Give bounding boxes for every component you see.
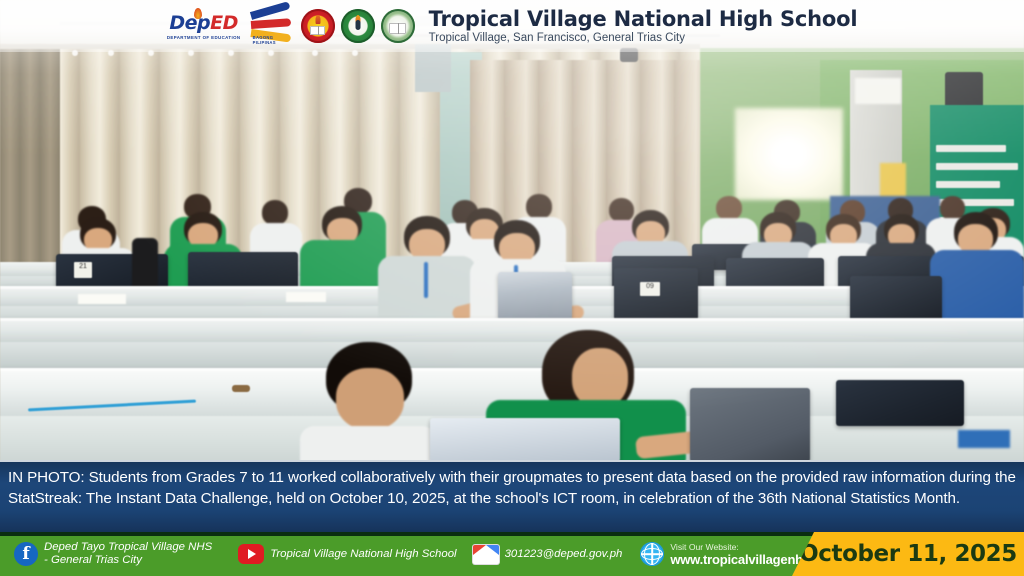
person-mid [300, 206, 384, 294]
book-icon [389, 23, 406, 34]
globe-icon[interactable] [640, 542, 664, 566]
bagong-pilipinas-subtitle: BAGONG PILIPINAS [253, 35, 295, 45]
flag-stripe-blue [250, 1, 291, 20]
globe-ring [644, 543, 660, 565]
laptop-number-label: 21 [74, 262, 92, 278]
poster-root: 21 [0, 0, 1024, 576]
caption-band: IN PHOTO: Students from Grades 7 to 11 w… [0, 460, 1024, 532]
facebook-label: Deped Tayo Tropical Village NHS - Genera… [44, 541, 212, 567]
curtain-left-dark [0, 44, 60, 280]
laptop-number-label: 09 [640, 282, 660, 296]
deped-word-dep: Dep [169, 12, 210, 34]
photo-region: 21 [0, 0, 1024, 462]
facebook-label-line1: Deped Tayo Tropical Village NHS [44, 541, 212, 554]
school-name: Tropical Village National High School [429, 7, 858, 31]
facebook-label-line2: - General Trias City [44, 554, 212, 567]
window [735, 108, 843, 200]
school-identity: Tropical Village National High School Tr… [429, 7, 858, 45]
paper [78, 294, 126, 304]
header-bar: DepED DEPARTMENT OF EDUCATION BAGONG PIL… [0, 0, 1024, 52]
board-row [936, 181, 1000, 188]
figure-icon [355, 20, 360, 30]
book-icon [310, 26, 325, 35]
flame-icon [194, 8, 202, 19]
footer-facebook[interactable]: f Deped Tayo Tropical Village NHS - Gene… [14, 541, 212, 567]
school-seal-green [341, 9, 375, 43]
laptop-closed [836, 380, 964, 426]
deped-wordmark: DepED [169, 12, 238, 34]
youtube-icon[interactable] [238, 544, 264, 564]
deped-word-ed: ED [210, 12, 238, 34]
logo-group: DepED DEPARTMENT OF EDUCATION BAGONG PIL… [167, 8, 415, 44]
bagong-pilipinas-logo: BAGONG PILIPINAS [247, 8, 295, 44]
desk-edge [0, 318, 1024, 321]
date-badge: October 11, 2025 [792, 532, 1024, 576]
school-seal-gear-green [381, 9, 415, 43]
person-student-blue [930, 212, 1024, 324]
youtube-label: Tropical Village National High School [270, 548, 456, 561]
flag-stripe-red [250, 18, 290, 29]
paper [286, 292, 326, 302]
laptop-open-foreground [430, 418, 620, 462]
laptop-foreground-right [690, 388, 810, 462]
deped-subtitle: DEPARTMENT OF EDUCATION [167, 35, 241, 40]
footer-email[interactable]: 301223@deped.gov.ph [473, 545, 623, 564]
person-foreground-boy [300, 342, 436, 462]
facebook-icon[interactable]: f [14, 542, 38, 566]
laptop-open [498, 272, 572, 320]
photo-content: 21 [0, 0, 1024, 462]
school-address: Tropical Village, San Francisco, General… [429, 31, 858, 45]
email-label: 301223@deped.gov.ph [505, 548, 623, 561]
gmail-icon[interactable] [473, 545, 499, 564]
blue-object [958, 430, 1010, 448]
division-seal-red [301, 9, 335, 43]
deped-logo: DepED DEPARTMENT OF EDUCATION [167, 9, 241, 43]
person-student-polo [378, 216, 476, 328]
eraser [232, 385, 250, 392]
board-row [936, 163, 1018, 170]
laptop [850, 276, 942, 322]
laptop: 09 [614, 268, 698, 320]
footer-youtube[interactable]: Tropical Village National High School [238, 544, 456, 564]
board-row [936, 145, 1006, 152]
globe-ring-horizontal [641, 548, 663, 560]
wall-sign [855, 78, 901, 104]
date-text: October 11, 2025 [799, 541, 1017, 567]
torch-icon [315, 15, 320, 24]
caption-text: IN PHOTO: Students from Grades 7 to 11 w… [8, 468, 1016, 509]
